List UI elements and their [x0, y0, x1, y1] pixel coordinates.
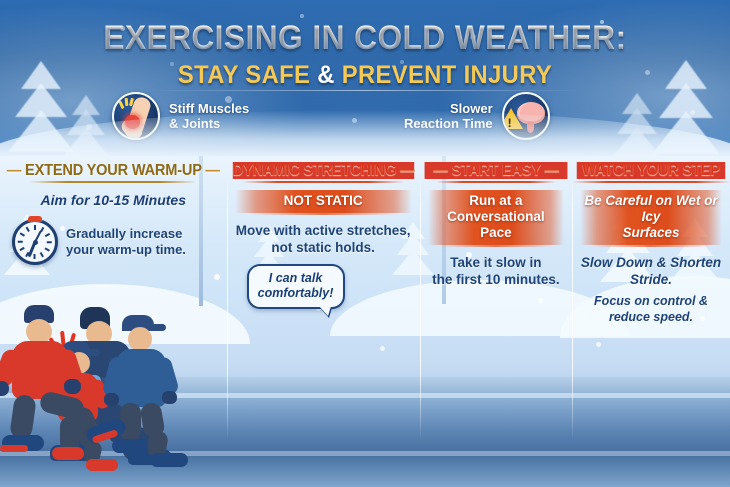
heading-underline [436, 181, 556, 183]
header-divider-rule [150, 90, 580, 91]
banner-text: NOT STATIC [284, 193, 363, 208]
body-line-2: Focus on control & [578, 294, 724, 310]
heading-underline [242, 181, 404, 183]
subtitle-part-2: PREVENT INJURY [335, 61, 552, 89]
heading-dash-right: — [544, 162, 558, 179]
snowflake [690, 110, 695, 115]
tip-column-extend-your-warm-up: — EXTEND YOUR WARM-UP — Aim for 10-15 Mi… [0, 156, 227, 487]
body-line-2: the first 10 minutes. [426, 271, 566, 288]
page-title: EXERCISING IN COLD WEATHER: [26, 18, 705, 58]
heading-text: DYNAMIC STRETCHING [232, 162, 395, 179]
heading-underline [572, 181, 730, 183]
column-banner: Be Careful on Wet or Icy Surfaces [580, 190, 722, 245]
poster-header: EXERCISING IN COLD WEATHER: STAY SAFE & … [0, 0, 730, 156]
column-body-text: Gradually increase your warm-up time. [66, 226, 186, 258]
column-banner: NOT STATIC [235, 190, 412, 213]
page-subtitle: STAY SAFE & PREVENT INJURY [18, 60, 712, 90]
column-divider [572, 178, 573, 441]
column-divider [227, 178, 228, 441]
banner-line-2: Surfaces [584, 225, 718, 241]
banner-line-1: Be Careful on Wet or Icy [584, 193, 718, 225]
tip-column-watch-your-step: WATCH YOUR STEP Be Careful on Wet or Icy… [572, 156, 730, 487]
infographic-poster: EXERCISING IN COLD WEATHER: STAY SAFE & … [0, 0, 730, 487]
column-subheading: Aim for 10-15 Minutes [0, 192, 227, 209]
body-line-1: Slow Down & Shorten Stride. [578, 254, 724, 288]
heading-text: EXTEND YOUR WARM-UP [25, 162, 201, 179]
heading-text: WATCH YOUR STEP [582, 162, 720, 179]
heading-dash-right: — [400, 162, 414, 179]
column-heading: DYNAMIC STRETCHING — [232, 162, 414, 179]
tips-columns: — EXTEND YOUR WARM-UP — Aim for 10-15 Mi… [0, 156, 730, 487]
column-body-text-secondary: Focus on control & reduce speed. [578, 294, 724, 325]
subtitle-ampersand: & [317, 61, 335, 89]
tip-column-dynamic-stretching: DYNAMIC STRETCHING — NOT STATIC Move wit… [227, 156, 420, 487]
poster-body: — EXTEND YOUR WARM-UP — Aim for 10-15 Mi… [0, 156, 730, 487]
bubble-line-1: I can talk [255, 271, 337, 286]
body-line-2: your warm-up time. [66, 242, 186, 258]
column-heading: — EXTEND YOUR WARM-UP — [7, 162, 220, 179]
stopwatch-row: Gradually increase your warm-up time. [12, 219, 219, 265]
tip-column-start-easy: — START EASY — Run at a Conversational P… [420, 156, 572, 487]
heading-dash-right: — [205, 162, 219, 179]
stopwatch-icon [12, 219, 58, 265]
heading-text: START EASY [451, 162, 540, 179]
column-divider [420, 178, 421, 441]
body-line-1: Gradually increase [66, 226, 186, 242]
body-line-2: not static holds. [233, 239, 414, 256]
bubble-line-2: comfortably! [255, 286, 337, 301]
body-line-1: Take it slow in [426, 254, 566, 271]
body-line-1: Move with active stretches, [233, 222, 414, 239]
column-heading: — START EASY — [424, 162, 567, 179]
banner-line-1: Run at a [432, 193, 560, 209]
heading-dash-left: — [433, 162, 447, 179]
heading-dash-left: — [7, 162, 21, 179]
column-body-text: Slow Down & Shorten Stride. [578, 254, 724, 288]
column-banner: Run at a Conversational Pace [428, 190, 564, 245]
column-body-text: Move with active stretches, not static h… [233, 222, 414, 256]
speech-bubble: I can talk comfortably! [247, 264, 345, 309]
subtitle-part-1: STAY SAFE [178, 61, 317, 89]
column-heading: WATCH YOUR STEP [577, 162, 726, 179]
heading-underline [29, 181, 197, 183]
banner-line-2: Conversational Pace [432, 209, 560, 241]
body-line-3: reduce speed. [578, 310, 724, 326]
column-body-text: Take it slow in the first 10 minutes. [426, 254, 566, 288]
